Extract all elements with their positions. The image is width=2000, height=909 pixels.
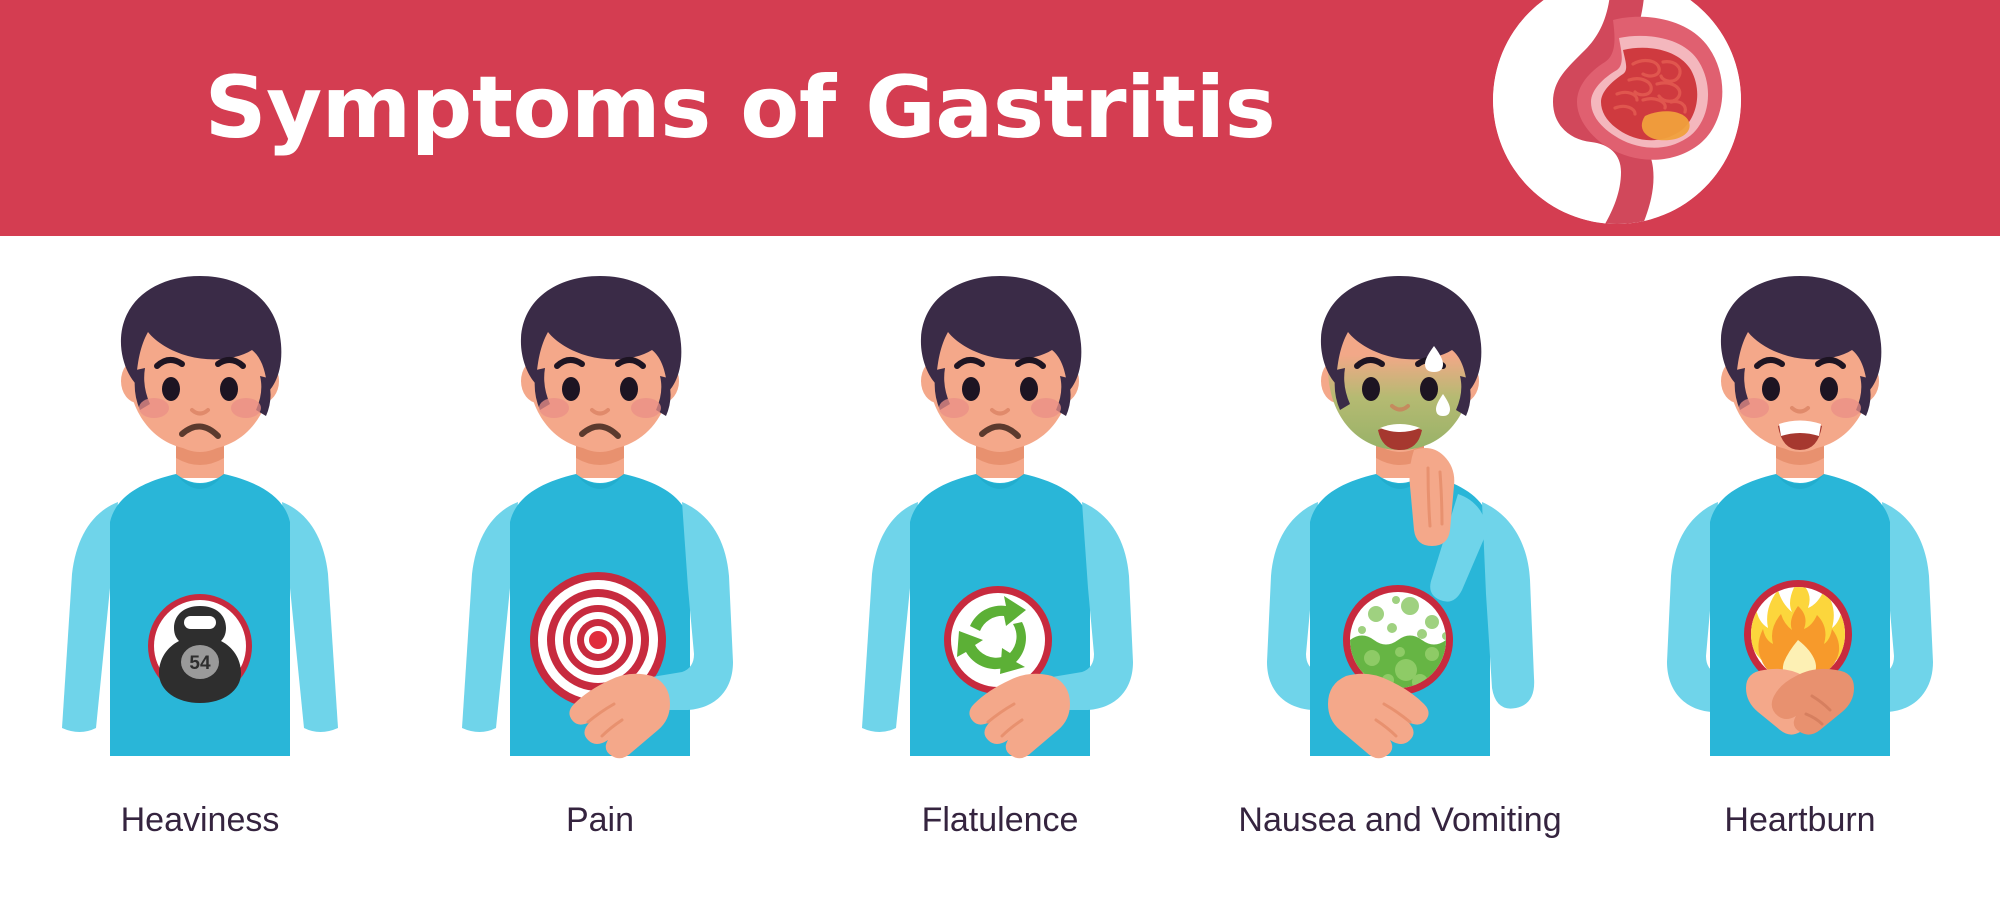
- symptom-card-nausea: Nausea and Vomiting: [1200, 236, 1600, 909]
- person-illustration-heaviness: 54: [0, 258, 400, 798]
- kettlebell-icon: 54: [148, 594, 252, 703]
- header-bar: Symptoms of Gastritis: [0, 0, 2000, 236]
- symptom-label: Heaviness: [0, 801, 400, 840]
- symptom-label: Flatulence: [800, 801, 1200, 840]
- infographic-root: Symptoms of Gastritis: [0, 0, 2000, 909]
- symptom-card-heartburn: Heartburn: [1600, 236, 2000, 909]
- stomach-icon: [1493, 0, 1741, 224]
- person-illustration-nausea: [1200, 258, 1600, 798]
- symptom-figure-row: 54 Heaviness: [0, 236, 2000, 909]
- svg-text:54: 54: [189, 653, 211, 674]
- symptom-card-flatulence: Flatulence: [800, 236, 1200, 909]
- symptom-label: Pain: [400, 801, 800, 840]
- page-title: Symptoms of Gastritis: [0, 58, 1480, 158]
- person-illustration-heartburn: [1600, 258, 2000, 798]
- person-illustration-flatulence: [800, 258, 1200, 798]
- symptom-card-pain: Pain: [400, 236, 800, 909]
- person-illustration-pain: [400, 258, 800, 798]
- symptom-label: Nausea and Vomiting: [1200, 801, 1600, 840]
- symptom-label: Heartburn: [1600, 801, 2000, 840]
- symptom-card-heaviness: 54 Heaviness: [0, 236, 400, 909]
